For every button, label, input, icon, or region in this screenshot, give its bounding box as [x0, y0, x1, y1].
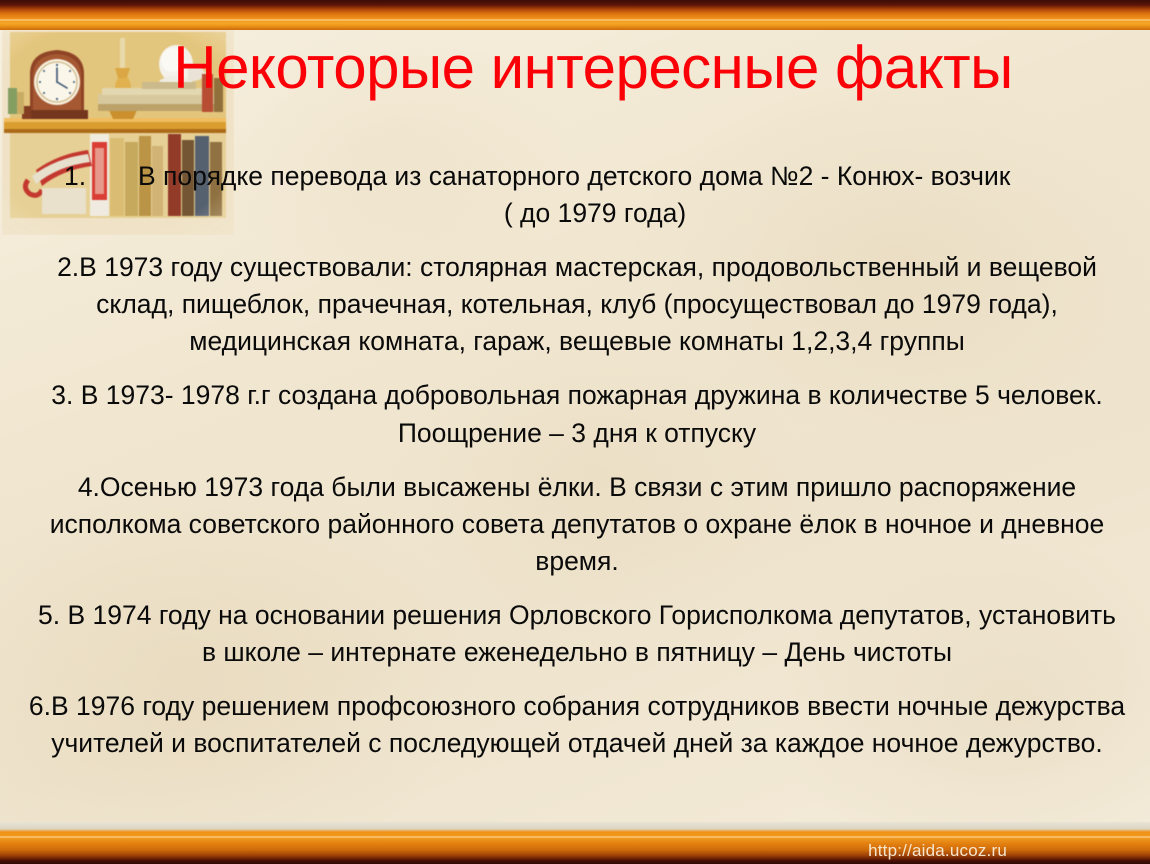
bottom-border-highlight [0, 836, 1150, 838]
fact-item-5: 5. В 1974 году на основании решения Орло… [28, 597, 1126, 671]
presentation-slide: Некоторые интересные факты 1.В порядке п… [0, 0, 1150, 864]
fact-1-marker: 1. [64, 158, 138, 195]
slide-body: 1.В порядке перевода из санаторного детс… [28, 158, 1126, 762]
fact-item-1: 1.В порядке перевода из санаторного детс… [28, 158, 1126, 232]
fact-1-line-2: ( до 1979 года) [64, 195, 1126, 232]
slide-bottom-border: http://aida.ucoz.ru [0, 822, 1150, 864]
fact-1-line-1: В порядке перевода из санаторного детско… [138, 161, 1010, 191]
fact-item-6: 6.В 1976 году решением профсоюзного собр… [28, 688, 1126, 762]
slide-top-border [0, 0, 1150, 30]
footer-watermark-url: http://aida.ucoz.ru [868, 842, 1007, 859]
top-border-highlight [0, 19, 1150, 21]
fact-item-3: 3. В 1973- 1978 г.г создана добровольная… [28, 377, 1126, 451]
fact-item-4: 4.Осенью 1973 года были высажены ёлки. В… [28, 469, 1126, 580]
fact-item-2: 2.В 1973 году существовали: столярная ма… [28, 249, 1126, 360]
slide-title: Некоторые интересные факты [0, 36, 1150, 100]
